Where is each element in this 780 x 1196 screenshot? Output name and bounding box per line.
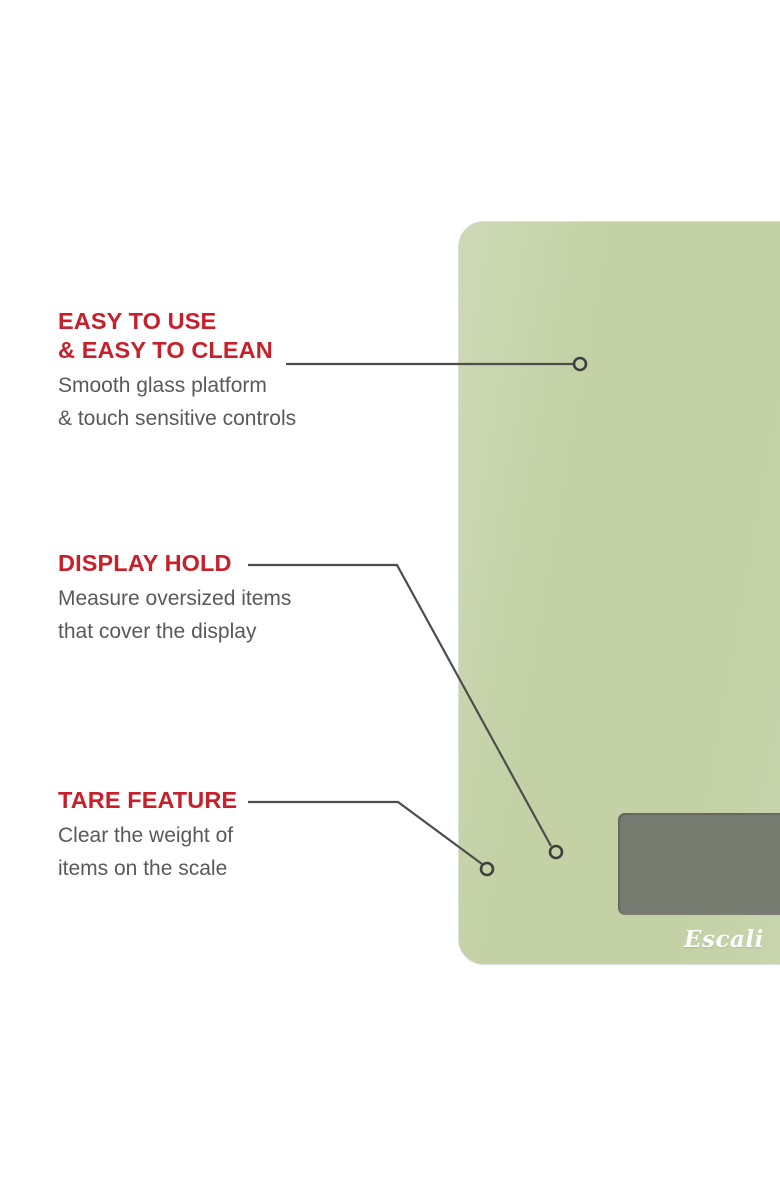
- callout-easy-to-use: EASY TO USE & EASY TO CLEAN Smooth glass…: [58, 307, 296, 435]
- callout-tare-feature-body: Clear the weight of items on the scale: [58, 819, 237, 885]
- leader-line-tare-feature: [248, 802, 493, 875]
- callout-display-hold-title: DISPLAY HOLD: [58, 549, 291, 578]
- callout-display-hold: DISPLAY HOLD Measure oversized items tha…: [58, 549, 291, 648]
- callout-display-hold-body: Measure oversized items that cover the d…: [58, 582, 291, 648]
- product-feature-infographic: TARE HOLD Escali EASY TO USE & EASY TO C…: [0, 0, 780, 1196]
- lcd-display: [618, 813, 780, 915]
- escali-brand-logo: Escali: [684, 926, 764, 953]
- callout-easy-to-use-body: Smooth glass platform & touch sensitive …: [58, 369, 296, 435]
- kitchen-scale-product: TARE HOLD Escali: [458, 221, 780, 965]
- callout-tare-feature-title: TARE FEATURE: [58, 786, 237, 815]
- callout-tare-feature: TARE FEATURE Clear the weight of items o…: [58, 786, 237, 885]
- callout-easy-to-use-title: EASY TO USE & EASY TO CLEAN: [58, 307, 296, 365]
